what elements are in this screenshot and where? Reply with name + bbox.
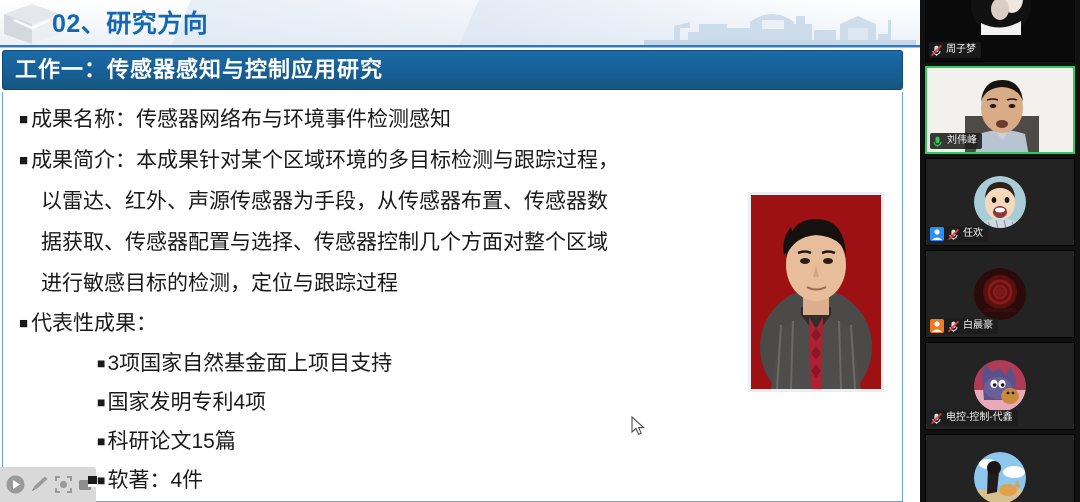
participants-sidebar[interactable]: 周子梦 <box>920 0 1080 502</box>
participant-avatar <box>974 360 1026 412</box>
participant-avatar <box>974 176 1026 228</box>
slide-content-frame: ■成果名称：传感器网络布与环境事件检测感知 ■成果简介：本成果针对某个区域环境的… <box>2 92 903 502</box>
bullet-item-2-line-4: 进行敏感目标的检测，定位与跟踪过程 <box>19 263 719 304</box>
sub-bullet-4: ■软著：4件 <box>19 461 719 500</box>
bullet-item-2: ■成果简介：本成果针对某个区域环境的多目标检测与跟踪过程， 以雷达、红外、声源传… <box>19 140 719 304</box>
bullet-item-2-line-3: 据获取、传感器配置与选择、传感器控制几个方面对整个区域 <box>19 222 719 263</box>
mic-muted-icon <box>930 44 943 57</box>
mic-muted-icon <box>930 412 943 425</box>
bullet-item-1: ■成果名称：传感器网络布与环境事件检测感知 <box>19 100 719 140</box>
participant-tile-active-speaker[interactable]: 刘伟峰 <box>925 66 1075 154</box>
section-banner: 工作一：传感器感知与控制应用研究 <box>2 50 903 90</box>
header-rule-secondary <box>0 47 920 48</box>
bullet-glyph: ■ <box>97 394 105 410</box>
slide-header: 02、研究方向 <box>0 0 920 48</box>
sub-bullet-1: ■3项国家自然基金面上项目支持 <box>19 344 719 383</box>
sub-bullet-2-text: 国家发明专利4项 <box>107 391 266 414</box>
sub-bullet-3-text: 科研论文15篇 <box>107 430 235 453</box>
participant-name: 任欢 <box>963 227 983 241</box>
play-button[interactable] <box>5 474 26 495</box>
city-skyline-icon <box>644 2 916 46</box>
mic-unmuted-icon <box>931 135 944 148</box>
slide-area: 02、研究方向 <box>0 0 920 502</box>
participant-namebar: 刘伟峰 <box>930 133 982 149</box>
participant-avatar <box>974 268 1026 320</box>
bullet-glyph: ■ <box>19 152 28 169</box>
bullet-item-2-label: 成果简介： <box>31 149 136 172</box>
participant-name: 周子梦 <box>946 43 976 57</box>
participant-name: 刘伟峰 <box>947 134 977 148</box>
sub-bullet-1-text: 3项国家自然基金面上项目支持 <box>107 352 392 375</box>
participant-tile[interactable] <box>925 434 1075 502</box>
participant-avatar <box>974 452 1026 502</box>
page-title: 02、研究方向 <box>52 4 208 44</box>
participant-tile[interactable]: 电控-控制-代鑫 <box>925 342 1075 430</box>
bullet-glyph: ■ <box>97 355 105 371</box>
participant-name: 白晨豪 <box>963 319 993 333</box>
participant-namebar: 任欢 <box>929 226 988 242</box>
section-banner-title: 工作一：传感器感知与控制应用研究 <box>15 51 383 89</box>
bullet-glyph: ■ <box>97 433 105 449</box>
bullet-glyph: ■ <box>19 111 28 128</box>
laser-pointer-button[interactable] <box>53 474 74 495</box>
presentation-screen-share: 02、研究方向 <box>0 0 1080 502</box>
participant-tile[interactable]: 周子梦 <box>925 0 1075 62</box>
bullet-item-2-line-2: 以雷达、红外、声源传感器为手段，从传感器布置、传感器数 <box>19 181 719 222</box>
screen-share-button[interactable] <box>77 474 98 495</box>
mic-muted-icon <box>947 320 960 333</box>
participant-name: 电控-控制-代鑫 <box>946 411 1013 425</box>
bullet-item-1-text: 传感器网络布与环境事件检测感知 <box>136 108 451 131</box>
sub-bullet-3: ■科研论文15篇 <box>19 422 719 461</box>
presentation-toolbar[interactable] <box>0 467 96 502</box>
bullet-item-3-label: 代表性成果： <box>31 312 157 335</box>
participant-tile[interactable]: 任欢 <box>925 158 1075 246</box>
bullet-item-2-text: 本成果针对某个区域环境的多目标检测与跟踪过程， <box>136 149 619 172</box>
participant-namebar: 白晨豪 <box>929 318 998 334</box>
participant-tile[interactable]: 白晨豪 <box>925 250 1075 338</box>
bullet-item-1-label: 成果名称： <box>31 108 136 131</box>
bullet-item-3: ■代表性成果： <box>19 304 719 344</box>
annotate-button[interactable] <box>29 474 50 495</box>
participant-namebar: 电控-控制-代鑫 <box>929 410 1018 426</box>
bullet-glyph: ■ <box>19 315 28 332</box>
slide-body: ■成果名称：传感器网络布与环境事件检测感知 ■成果简介：本成果针对某个区域环境的… <box>19 100 719 500</box>
mic-muted-icon <box>947 228 960 241</box>
presenter-portrait-photo <box>748 192 884 392</box>
sub-bullet-2: ■国家发明专利4项 <box>19 383 719 422</box>
sub-bullet-4-text: 软著：4件 <box>107 469 203 492</box>
arrow-cursor-icon <box>631 416 645 436</box>
host-badge-icon <box>930 319 944 333</box>
bullet-glyph: ■ <box>97 472 105 488</box>
participant-namebar: 周子梦 <box>929 42 981 58</box>
video-off-badge-icon <box>930 227 944 241</box>
